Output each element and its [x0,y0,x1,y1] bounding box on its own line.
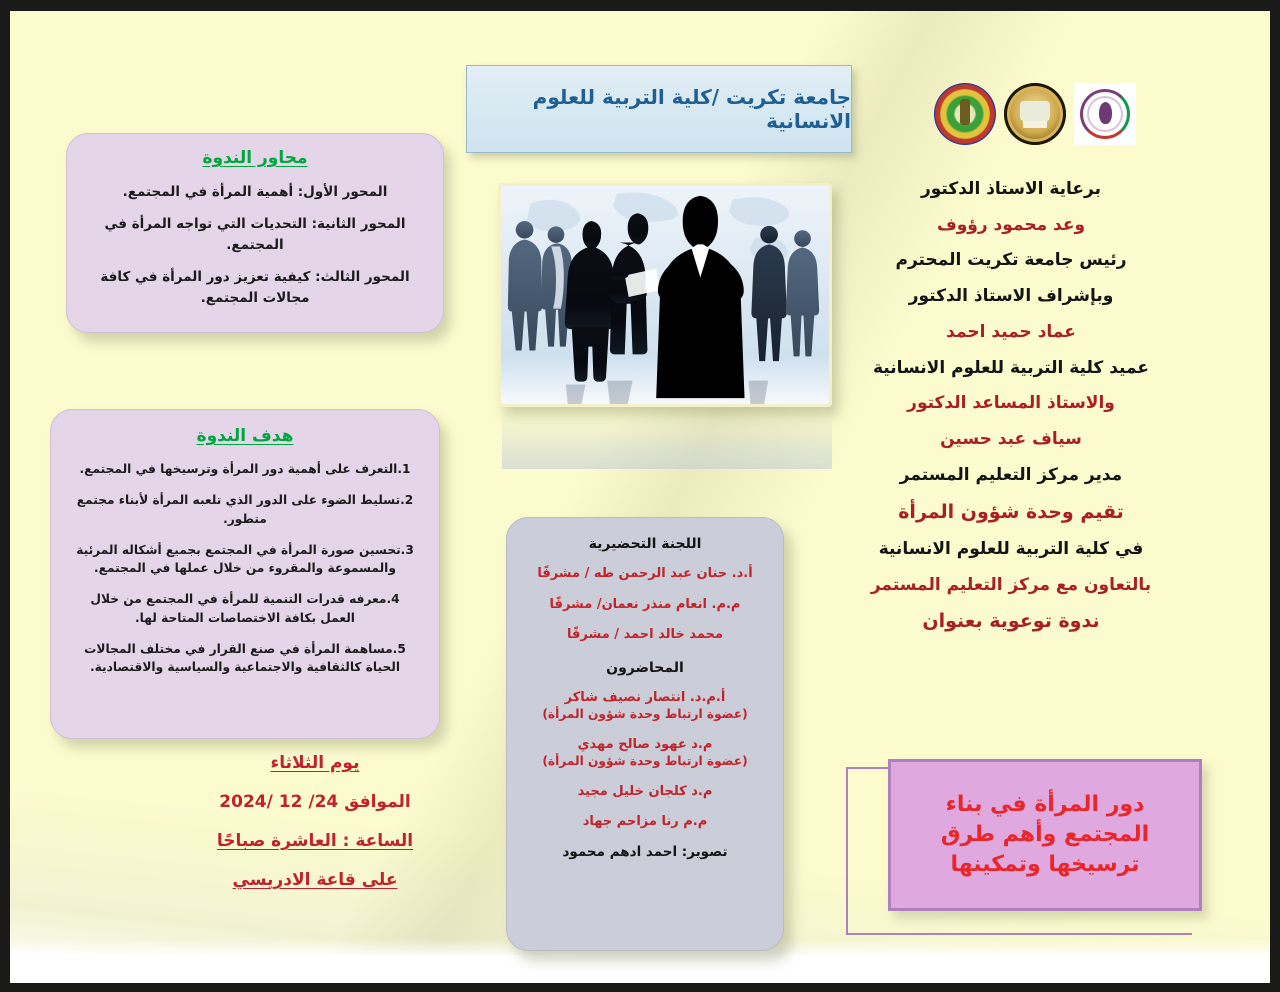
committee-member-name: أ.د. حنان عبد الرحمن طه / مشرفًا [537,566,752,581]
bottom-white-band [10,955,1270,983]
header-banner-text: جامعة تكريت /كلية التربية للعلوم الانسان… [467,85,851,133]
logo-row [900,83,1136,145]
committee-member: محمد خالد احمد / مشرفًا [523,626,767,644]
seminar-title-card-wrap: دور المرأة في بناء المجتمع وأهم طرق ترسي… [846,759,1202,935]
photo-reflection [502,407,832,469]
goal-item: 1.التعرف على أهمية دور المرأة وترسيخها ف… [73,460,417,478]
lecturer-role: (عضوة ارتباط وحدة شؤون المرأة) [523,706,767,722]
organizer-line: في كلية التربية للعلوم الانسانية [856,539,1166,560]
seminar-axes-panel: محاور الندوة المحور الأول: أهمية المرأة … [66,133,444,333]
sponsor-line: عميد كلية التربية للعلوم الانسانية [856,358,1166,379]
goal-item: 4.معرفه قدرات التنمية للمرأة في المجتمع … [73,590,417,627]
lecturer-item: م.م رنا مزاحم جهاد [523,813,767,831]
goal-item: 2.تسليط الضوء على الدور الذي تلعبه المرأ… [73,491,417,528]
sponsor-line: مدير مركز التعليم المستمر [856,465,1166,486]
lecturer-name: أ.م.د. انتصار نصيف شاكر [565,690,726,705]
seminar-goals-panel: هدف الندوة 1.التعرف على أهمية دور المرأة… [50,409,440,739]
sponsor-line: وعد محمود رؤوف [856,215,1166,236]
seminar-title-text: دور المرأة في بناء المجتمع وأهم طرق ترسي… [891,790,1199,879]
seminar-label: ندوة توعوية بعنوان [856,610,1166,633]
committee-member-name: م.م. انعام منذر نعمان/ مشرفًا [550,597,741,612]
women-affairs-unit-logo-icon [1074,83,1136,145]
committee-heading: اللجنة التحضيرية [523,536,767,552]
committee-panel: اللجنة التحضيرية أ.د. حنان عبد الرحمن طه… [506,517,784,951]
axis-item: المحور الثانية: التحديات التي تواجه المر… [87,214,423,256]
lecturer-item: أ.م.د. انتصار نصيف شاكر (عضوة ارتباط وحد… [523,689,767,723]
poster-frame: جامعة تكريت /كلية التربية للعلوم الانسان… [0,0,1280,992]
seminar-photo [498,183,832,407]
poster-canvas: جامعة تكريت /كلية التربية للعلوم الانسان… [10,11,1270,983]
goal-item: 5.مساهمة المرأة في صنع القرار في مختلف ا… [73,640,417,677]
committee-member: أ.د. حنان عبد الرحمن طه / مشرفًا [523,565,767,583]
committee-member: م.م. انعام منذر نعمان/ مشرفًا [523,596,767,614]
event-datetime-block: يوم الثلاثاء الموافق 24/ 12 /2024 الساعة… [185,753,445,909]
lecturer-item: م.د عهود صالح مهدي (عضوة ارتباط وحدة شؤو… [523,736,767,770]
organizer-line: بالتعاون مع مركز التعليم المستمر [856,575,1166,596]
sponsor-line: رئيس جامعة تكريت المحترم [856,250,1166,271]
event-time: الساعة : العاشرة صباحًا [185,831,445,851]
lecturers-heading: المحاضرون [523,660,767,676]
event-day: يوم الثلاثاء [185,753,445,773]
header-banner: جامعة تكريت /كلية التربية للعلوم الانسان… [466,65,852,153]
organizer-line: تقيم وحدة شؤون المرأة [856,501,1166,524]
committee-member-name: محمد خالد احمد / مشرفًا [567,627,723,642]
sponsor-line: وبإشراف الاستاذ الدكتور [856,286,1166,307]
axis-item: المحور الثالث: كيفية تعزيز دور المرأة في… [87,267,423,309]
axes-panel-title: محاور الندوة [87,148,423,168]
sponsors-column: برعاية الاستاذ الدكتور وعد محمود رؤوف رئ… [856,179,1166,648]
lecturer-item: م.د كلجان خليل مجيد [523,783,767,801]
photo-credit: تصوير: احمد ادهم محمود [523,844,767,860]
lecturer-name: م.م رنا مزاحم جهاد [583,814,707,829]
sponsor-line: والاستاذ المساعد الدكتور [856,393,1166,414]
event-venue: على قاعة الادريسي [185,870,445,890]
lecturer-name: م.د عهود صالح مهدي [578,737,713,752]
ministry-crest-logo-icon [1004,83,1066,145]
axis-item: المحور الأول: أهمية المرأة في المجتمع. [87,182,423,203]
lecturer-role: (عضوة ارتباط وحدة شؤون المرأة) [523,753,767,769]
goal-item: 3.تحسين صورة المرأة في المجتمع بجميع أشك… [73,541,417,578]
sponsor-line: عماد حميد احمد [856,322,1166,343]
sponsor-line: سياف عبد حسين [856,429,1166,450]
silhouette-people-illustration [501,186,829,404]
seminar-title-card: دور المرأة في بناء المجتمع وأهم طرق ترسي… [888,759,1202,911]
lecturer-name: م.د كلجان خليل مجيد [578,784,713,799]
event-date: الموافق 24/ 12 /2024 [185,792,445,812]
sponsor-line: برعاية الاستاذ الدكتور [856,179,1166,200]
tikrit-university-logo-icon [934,83,996,145]
goals-panel-title: هدف الندوة [73,426,417,446]
